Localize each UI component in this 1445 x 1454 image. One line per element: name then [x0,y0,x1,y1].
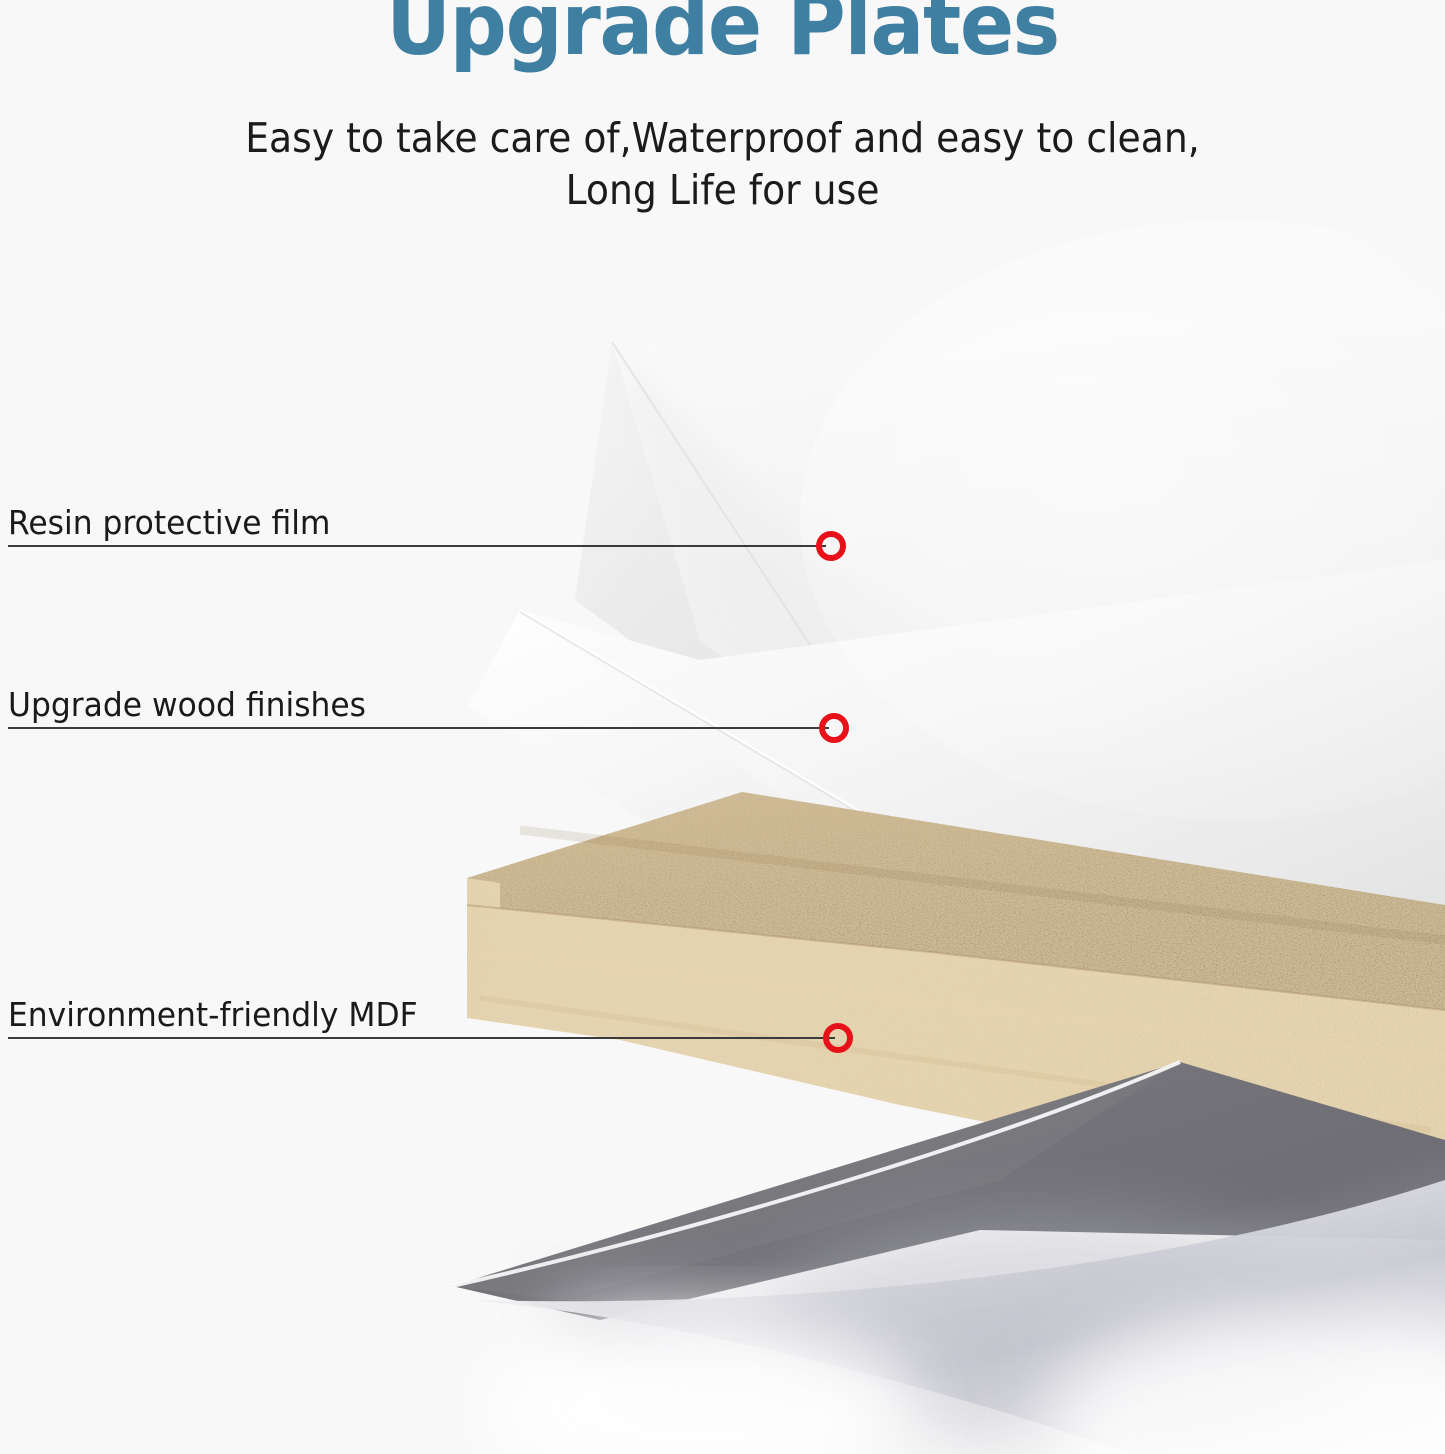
callout-leader-line-upgrade-wood-finishes [8,727,829,729]
callout-label-upgrade-wood-finishes: Upgrade wood finishes [8,685,366,724]
callout-label-resin-protective-film: Resin protective film [8,503,330,542]
page-subtitle: Easy to take care of,Waterproof and easy… [58,112,1387,217]
callout-marker-resin-protective-film [816,531,846,561]
page-title: Upgrade Plates [51,0,1395,68]
callout-marker-upgrade-wood-finishes [819,713,849,743]
product-infographic: Upgrade Plates Easy to take care of,Wate… [0,0,1445,1454]
callout-marker-environment-friendly-mdf [823,1023,853,1053]
callout-leader-line-environment-friendly-mdf [8,1037,835,1039]
subtitle-line-2: Long Life for use [58,164,1387,216]
callout-leader-line-resin-protective-film [8,545,826,547]
callout-label-environment-friendly-mdf: Environment-friendly MDF [8,995,418,1034]
subtitle-line-1: Easy to take care of,Waterproof and easy… [58,112,1387,164]
